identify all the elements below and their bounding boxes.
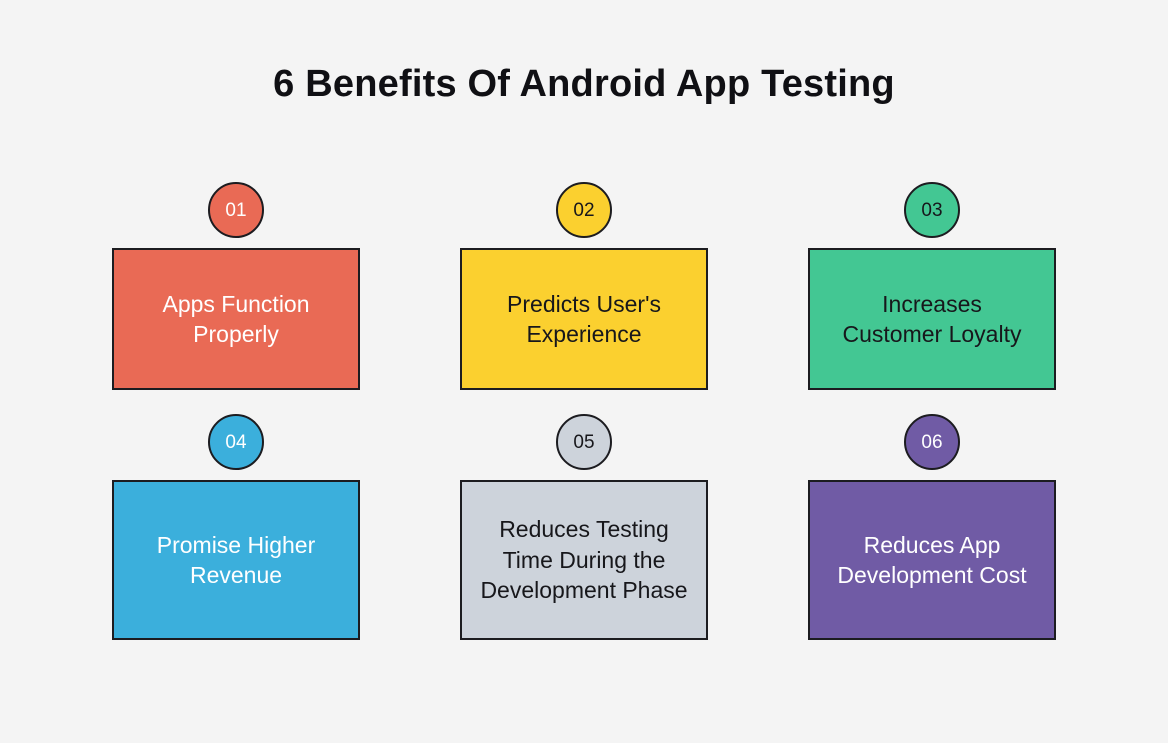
benefit-card-text-05: Reduces Testing Time During the Developm… [476,514,692,605]
badge-row-01: 01 [112,172,360,248]
benefit-card-06[interactable]: Reduces App Development Cost [808,480,1056,640]
benefit-card-02[interactable]: Predicts User's Experience [460,248,708,390]
infographic-canvas: 6 Benefits Of Android App Testing 01 App… [0,0,1168,743]
benefit-card-text-03: Increases Customer Loyalty [824,289,1040,350]
page-title: 6 Benefits Of Android App Testing [0,62,1168,108]
benefit-item-03: 03 Increases Customer Loyalty [808,172,1056,390]
benefit-card-03[interactable]: Increases Customer Loyalty [808,248,1056,390]
benefit-number-badge-05[interactable]: 05 [556,414,612,470]
benefit-number-badge-03[interactable]: 03 [904,182,960,238]
badge-row-03: 03 [808,172,1056,248]
benefit-item-05: 05 Reduces Testing Time During the Devel… [460,404,708,640]
badge-row-06: 06 [808,404,1056,480]
benefit-number-label-01: 01 [225,201,246,220]
benefit-number-label-06: 06 [921,433,942,452]
badge-row-05: 05 [460,404,708,480]
badge-row-02: 02 [460,172,708,248]
benefit-card-text-06: Reduces App Development Cost [824,530,1040,591]
badge-row-04: 04 [112,404,360,480]
benefit-number-label-03: 03 [921,201,942,220]
benefit-card-text-04: Promise Higher Revenue [128,530,344,591]
benefit-item-06: 06 Reduces App Development Cost [808,404,1056,640]
benefit-card-01[interactable]: Apps Function Properly [112,248,360,390]
benefit-item-04: 04 Promise Higher Revenue [112,404,360,640]
benefit-card-05[interactable]: Reduces Testing Time During the Developm… [460,480,708,640]
benefit-item-01: 01 Apps Function Properly [112,172,360,390]
benefits-grid: 01 Apps Function Properly 02 Predicts Us… [112,172,1056,640]
benefit-number-badge-02[interactable]: 02 [556,182,612,238]
benefit-number-badge-06[interactable]: 06 [904,414,960,470]
benefit-number-label-05: 05 [573,433,594,452]
benefit-number-label-04: 04 [225,433,246,452]
benefit-card-text-01: Apps Function Properly [128,289,344,350]
benefit-number-badge-04[interactable]: 04 [208,414,264,470]
benefit-card-text-02: Predicts User's Experience [476,289,692,350]
benefit-item-02: 02 Predicts User's Experience [460,172,708,390]
benefit-card-04[interactable]: Promise Higher Revenue [112,480,360,640]
benefit-number-badge-01[interactable]: 01 [208,182,264,238]
benefit-number-label-02: 02 [573,201,594,220]
